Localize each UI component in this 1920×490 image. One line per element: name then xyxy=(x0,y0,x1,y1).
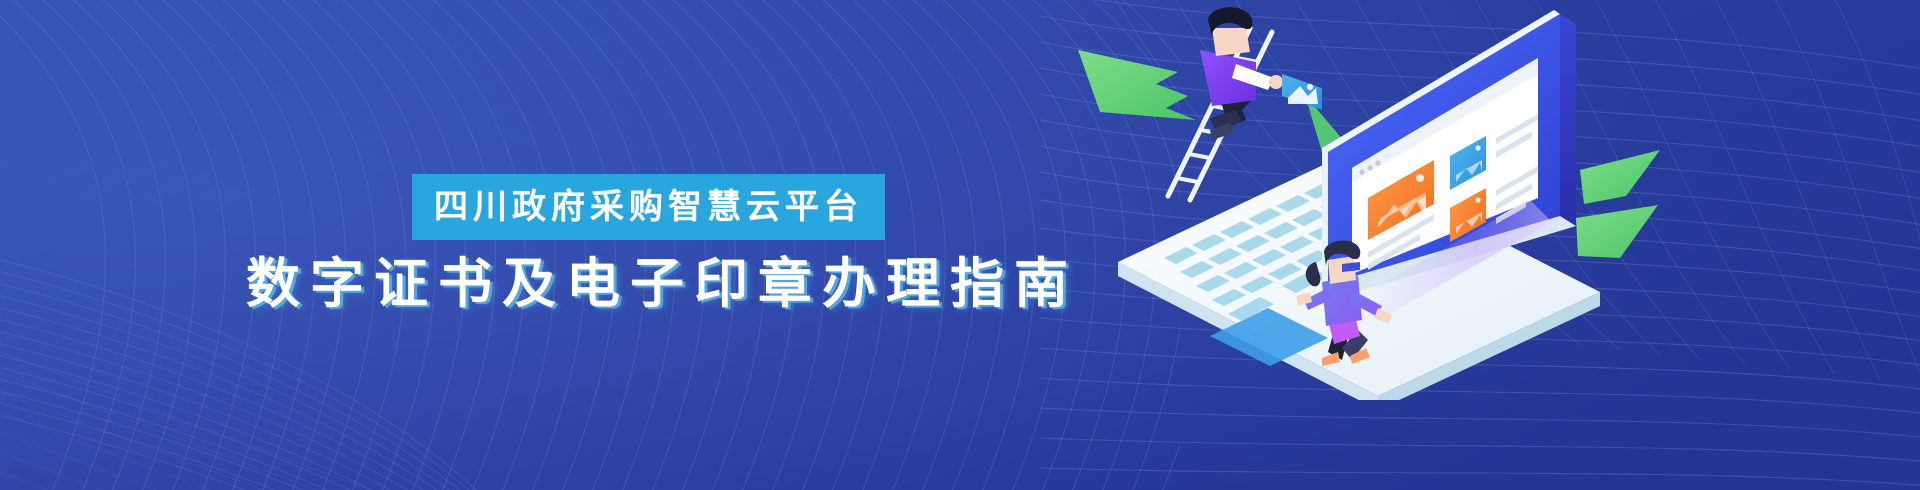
leaf-right-upper xyxy=(1580,150,1660,204)
promo-banner: 四川政府采购智慧云平台 数字证书及电子印章办理指南 xyxy=(0,0,1920,490)
page-title: 数字证书及电子印章办理指南 xyxy=(246,254,1078,314)
leaf-left xyxy=(1078,50,1196,120)
platform-badge: 四川政府采购智慧云平台 xyxy=(412,174,885,240)
platform-badge-label: 四川政府采购智慧云平台 xyxy=(434,190,863,224)
hero-illustration xyxy=(1060,0,1700,400)
leaf-right-lower xyxy=(1576,205,1658,258)
banner-text-block: 四川政府采购智慧云平台 数字证书及电子印章办理指南 xyxy=(0,0,1060,490)
person-on-ladder xyxy=(1200,7,1322,140)
